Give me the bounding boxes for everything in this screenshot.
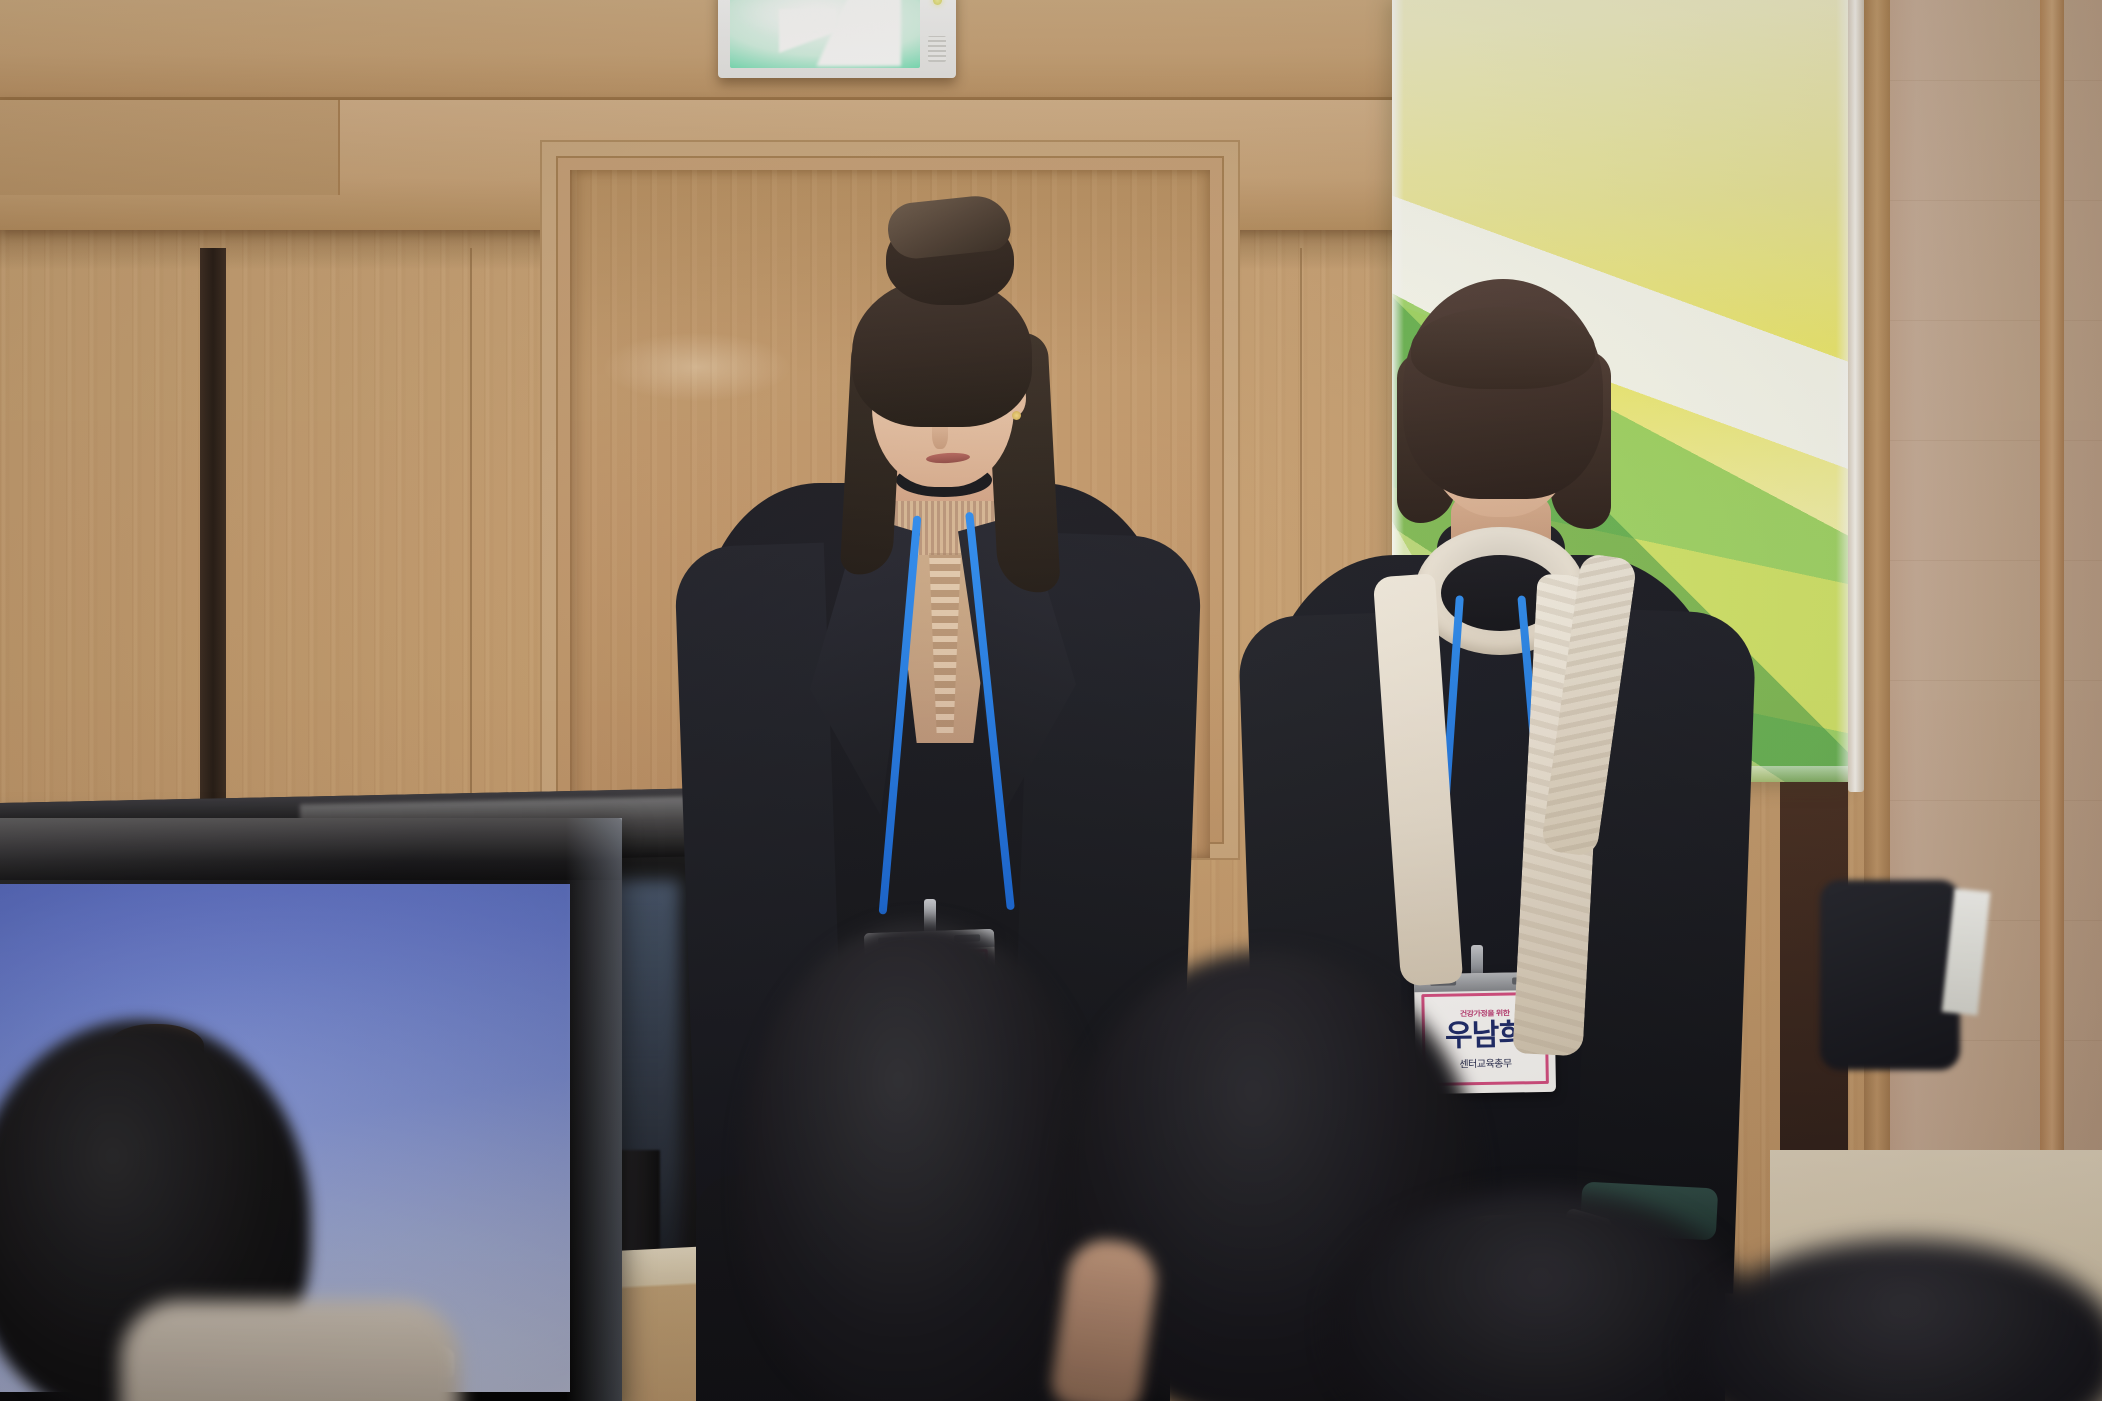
exit-sign-glow [730, 0, 900, 40]
monitor-bezel-gloss [0, 818, 622, 880]
audience-shoulder [1820, 880, 1960, 1070]
monitor-side-gloss [566, 818, 622, 1401]
wall-panel-seam [470, 248, 472, 848]
wall-panel-gap [200, 248, 226, 818]
right-wall-post-outer [2040, 0, 2064, 1180]
exit-sign-led-icon [933, 0, 942, 5]
badge-subtitle-text: 센터교육총무 [1459, 1055, 1511, 1071]
audience-shoulder [120, 1300, 460, 1401]
hair-fringe [1411, 307, 1595, 389]
photo-scene: 건강가정을 위한 이미경 생활교육원장 [0, 0, 2102, 1401]
cornice-seam [0, 100, 340, 195]
exit-sign-panel [730, 0, 920, 68]
exit-sign-vent [928, 36, 946, 62]
badge-header-text: 건강가정을 위한 [1460, 1008, 1510, 1019]
earring [1012, 411, 1021, 420]
banner-pole [1848, 0, 1864, 792]
audience-head [740, 920, 1100, 1401]
emergency-exit-sign [718, 0, 956, 78]
